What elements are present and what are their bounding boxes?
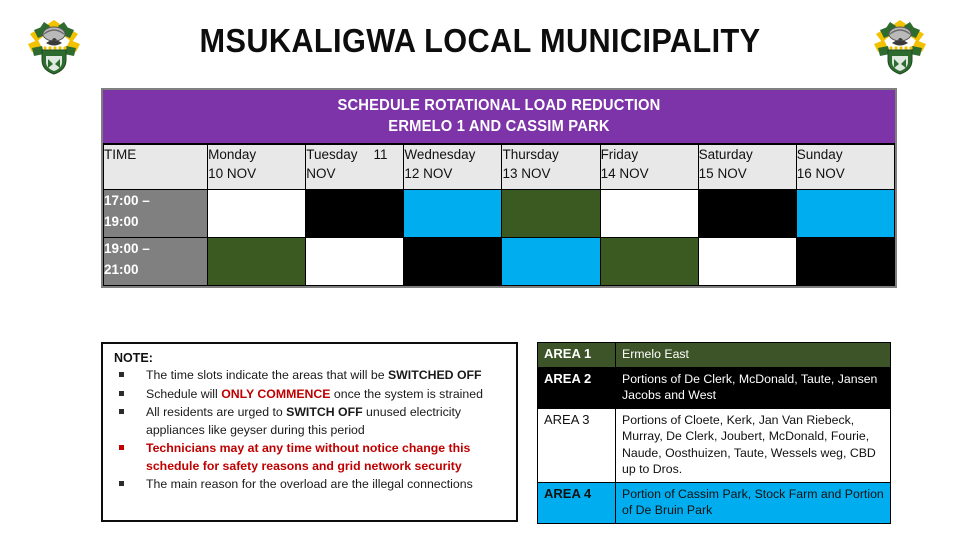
area-row-1: AREA 1 Ermelo East <box>538 343 891 368</box>
time-slot-17-19-line1: 17:00 – <box>104 193 150 208</box>
area-1-description: Ermelo East <box>616 343 891 368</box>
bullet-square-icon <box>119 409 124 414</box>
note-title: NOTE: <box>114 351 507 365</box>
note-item-1: The time slots indicate the areas that w… <box>112 367 507 385</box>
column-header-wednesday-name: Wednesday <box>404 147 475 162</box>
area-4-label: AREA 4 <box>538 482 616 523</box>
column-header-tuesday: Tuesday11 NOV <box>306 145 404 190</box>
column-header-thursday: Thursday 13 NOV <box>502 145 600 190</box>
schedule-table: SCHEDULE ROTATIONAL LOAD REDUCTION ERMEL… <box>101 88 897 288</box>
area-3-label: AREA 3 <box>538 408 616 482</box>
time-slot-label-19-21: 19:00 – 21:00 <box>104 238 208 286</box>
area-2-description: Portions of De Clerk, McDonald, Taute, J… <box>616 367 891 408</box>
schedule-header-row: TIME Monday 10 NOV Tuesday11 NOV Wednesd… <box>104 145 895 190</box>
bullet-square-icon <box>119 445 124 450</box>
area-row-3: AREA 3 Portions of Cloete, Kerk, Jan Van… <box>538 408 891 482</box>
note-item-5: The main reason for the overload are the… <box>112 476 507 494</box>
schedule-cell-sun-17-19[interactable] <box>796 190 894 238</box>
column-header-saturday-date: 15 NOV <box>699 164 796 183</box>
schedule-banner: SCHEDULE ROTATIONAL LOAD REDUCTION ERMEL… <box>103 90 895 144</box>
schedule-cell-thu-19-21[interactable] <box>502 238 600 286</box>
schedule-banner-line1: SCHEDULE ROTATIONAL LOAD REDUCTION <box>123 95 875 116</box>
column-header-time: TIME <box>104 145 208 190</box>
column-header-tuesday-date: NOV <box>306 164 403 183</box>
page-title: MSUKALIGWA LOCAL MUNICIPALITY <box>34 22 927 60</box>
schedule-cell-sun-19-21[interactable] <box>796 238 894 286</box>
schedule-cell-sat-17-19[interactable] <box>698 190 796 238</box>
column-header-wednesday-date: 12 NOV <box>404 164 501 183</box>
schedule-cell-fri-17-19[interactable] <box>600 190 698 238</box>
column-header-monday: Monday 10 NOV <box>208 145 306 190</box>
schedule-cell-tue-19-21[interactable] <box>306 238 404 286</box>
column-header-friday-date: 14 NOV <box>601 164 698 183</box>
bullet-square-icon <box>119 372 124 377</box>
column-header-sunday-date: 16 NOV <box>797 164 894 183</box>
area-2-label: AREA 2 <box>538 367 616 408</box>
column-header-tuesday-daynum: 11 <box>374 147 388 162</box>
schedule-cell-wed-17-19[interactable] <box>404 190 502 238</box>
schedule-cell-mon-17-19[interactable] <box>208 190 306 238</box>
note-item-2: Schedule will ONLY COMMENCE once the sys… <box>112 386 507 404</box>
schedule-cell-sat-19-21[interactable] <box>698 238 796 286</box>
column-header-friday: Friday 14 NOV <box>600 145 698 190</box>
schedule-cell-wed-19-21[interactable] <box>404 238 502 286</box>
schedule-banner-line2: ERMELO 1 AND CASSIM PARK <box>123 116 875 137</box>
note-item-4: Technicians may at any time without noti… <box>112 440 507 475</box>
schedule-row-17-19: 17:00 – 19:00 <box>104 190 895 238</box>
time-slot-17-19-line2: 19:00 <box>104 214 139 229</box>
column-header-monday-date: 10 NOV <box>208 164 305 183</box>
column-header-time-label: TIME <box>104 147 136 162</box>
bullet-square-icon <box>119 391 124 396</box>
area-row-4: AREA 4 Portion of Cassim Park, Stock Far… <box>538 482 891 523</box>
column-header-thursday-name: Thursday <box>502 147 558 162</box>
schedule-cell-tue-17-19[interactable] <box>306 190 404 238</box>
schedule-cell-fri-19-21[interactable] <box>600 238 698 286</box>
area-4-description: Portion of Cassim Park, Stock Farm and P… <box>616 482 891 523</box>
column-header-friday-name: Friday <box>601 147 639 162</box>
schedule-row-19-21: 19:00 – 21:00 <box>104 238 895 286</box>
column-header-sunday: Sunday 16 NOV <box>796 145 894 190</box>
time-slot-19-21-line2: 21:00 <box>104 262 139 277</box>
area-3-description: Portions of Cloete, Kerk, Jan Van Riebec… <box>616 408 891 482</box>
time-slot-19-21-line1: 19:00 – <box>104 241 150 256</box>
area-legend-table: AREA 1 Ermelo East AREA 2 Portions of De… <box>537 342 891 524</box>
column-header-wednesday: Wednesday 12 NOV <box>404 145 502 190</box>
page-header: MSUKALIGWA LOCAL MUNICIPALITY <box>0 0 960 88</box>
column-header-saturday-name: Saturday <box>699 147 753 162</box>
note-box: NOTE: The time slots indicate the areas … <box>101 342 518 522</box>
municipality-logo-right-icon <box>868 16 932 78</box>
column-header-monday-name: Monday <box>208 147 256 162</box>
note-list: The time slots indicate the areas that w… <box>112 367 507 494</box>
schedule-cell-thu-17-19[interactable] <box>502 190 600 238</box>
area-row-2: AREA 2 Portions of De Clerk, McDonald, T… <box>538 367 891 408</box>
area-1-label: AREA 1 <box>538 343 616 368</box>
time-slot-label-17-19: 17:00 – 19:00 <box>104 190 208 238</box>
column-header-tuesday-name: Tuesday <box>306 147 357 162</box>
schedule-cell-mon-19-21[interactable] <box>208 238 306 286</box>
column-header-saturday: Saturday 15 NOV <box>698 145 796 190</box>
bullet-square-icon <box>119 481 124 486</box>
note-item-3: All residents are urged to SWITCH OFF un… <box>112 404 507 439</box>
column-header-sunday-name: Sunday <box>797 147 843 162</box>
column-header-thursday-date: 13 NOV <box>502 164 599 183</box>
schedule-grid: TIME Monday 10 NOV Tuesday11 NOV Wednesd… <box>103 144 895 286</box>
